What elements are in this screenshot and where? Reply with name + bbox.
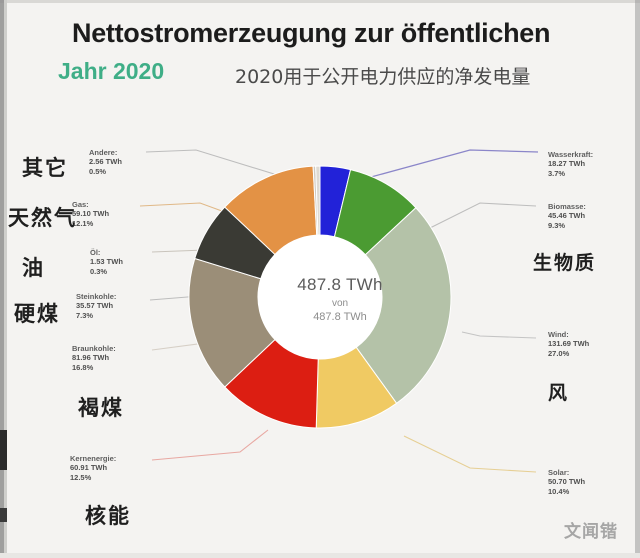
label-value-solar: 50.70 TWh xyxy=(548,477,585,486)
label-value-wind: 131.69 TWh xyxy=(548,339,589,348)
label-name-wasserkraft: Wasserkraft: xyxy=(548,150,593,159)
label-value-wasserkraft: 18.27 TWh xyxy=(548,159,593,168)
data-label-gas: Gas: 59.10 TWh 12.1% xyxy=(72,200,109,228)
data-label-wind: Wind: 131.69 TWh 27.0% xyxy=(548,330,589,358)
label-percent-andere: 0.5% xyxy=(89,167,122,176)
label-value-andere: 2.56 TWh xyxy=(89,157,122,166)
label-name-braunkohle: Braunkohle: xyxy=(72,344,116,353)
donut-graphic xyxy=(185,162,455,432)
cn-annotation-wind: 风 xyxy=(548,378,569,405)
label-value-oel: 1.53 TWh xyxy=(90,257,123,266)
cn-annotation-gas: 天然气 xyxy=(8,202,77,232)
label-percent-braunkohle: 16.8% xyxy=(72,363,116,372)
label-value-gas: 59.10 TWh xyxy=(72,209,109,218)
watermark: 文闻锴 xyxy=(564,517,618,542)
label-name-gas: Gas: xyxy=(72,200,109,209)
label-name-solar: Solar: xyxy=(548,468,585,477)
data-label-andere: Andere: 2.56 TWh 0.5% xyxy=(89,148,122,176)
data-label-steinkohle: Steinkohle: 35.57 TWh 7.3% xyxy=(76,292,116,320)
data-label-oel: Öl: 1.53 TWh 0.3% xyxy=(90,248,123,276)
cn-annotation-biomasse: 生物质 xyxy=(533,248,596,275)
label-percent-steinkohle: 7.3% xyxy=(76,311,116,320)
label-name-oel: Öl: xyxy=(90,248,123,257)
label-value-biomasse: 45.46 TWh xyxy=(548,211,586,220)
cn-annotation-braunkohle: 褐煤 xyxy=(78,392,124,422)
cn-annotation-oel: 油 xyxy=(22,252,45,282)
subtitle-german: Jahr 2020 xyxy=(58,58,164,85)
data-label-biomasse: Biomasse: 45.46 TWh 9.3% xyxy=(548,202,586,230)
label-percent-solar: 10.4% xyxy=(548,487,585,496)
label-name-steinkohle: Steinkohle: xyxy=(76,292,116,301)
subtitle-chinese: 2020用于公开电力供应的净发电量 xyxy=(235,62,530,89)
cn-annotation-kernenergie: 核能 xyxy=(85,500,131,530)
data-label-kernenergie: Kernenergie: 60.91 TWh 12.5% xyxy=(70,454,116,482)
chart-header: Nettostromerzeugung zur öffentlichen Jah… xyxy=(0,0,640,100)
label-percent-wasserkraft: 3.7% xyxy=(548,169,593,178)
label-value-steinkohle: 35.57 TWh xyxy=(76,301,116,310)
label-value-kernenergie: 60.91 TWh xyxy=(70,463,116,472)
page-title: Nettostromerzeugung zur öffentlichen xyxy=(72,18,550,49)
label-name-andere: Andere: xyxy=(89,148,122,157)
label-percent-kernenergie: 12.5% xyxy=(70,473,116,482)
label-name-biomasse: Biomasse: xyxy=(548,202,586,211)
label-percent-biomasse: 9.3% xyxy=(548,221,586,230)
cn-annotation-andere: 其它 xyxy=(22,152,68,182)
data-label-solar: Solar: 50.70 TWh 10.4% xyxy=(548,468,585,496)
data-label-wasserkraft: Wasserkraft: 18.27 TWh 3.7% xyxy=(548,150,593,178)
data-label-braunkohle: Braunkohle: 81.96 TWh 16.8% xyxy=(72,344,116,372)
cn-annotation-steinkohle: 硬煤 xyxy=(14,298,60,328)
label-name-kernenergie: Kernenergie: xyxy=(70,454,116,463)
label-value-braunkohle: 81.96 TWh xyxy=(72,353,116,362)
label-name-wind: Wind: xyxy=(548,330,589,339)
label-percent-oel: 0.3% xyxy=(90,267,123,276)
label-percent-wind: 27.0% xyxy=(548,349,589,358)
chart-page: Nettostromerzeugung zur öffentlichen Jah… xyxy=(0,0,640,558)
label-percent-gas: 12.1% xyxy=(72,219,109,228)
